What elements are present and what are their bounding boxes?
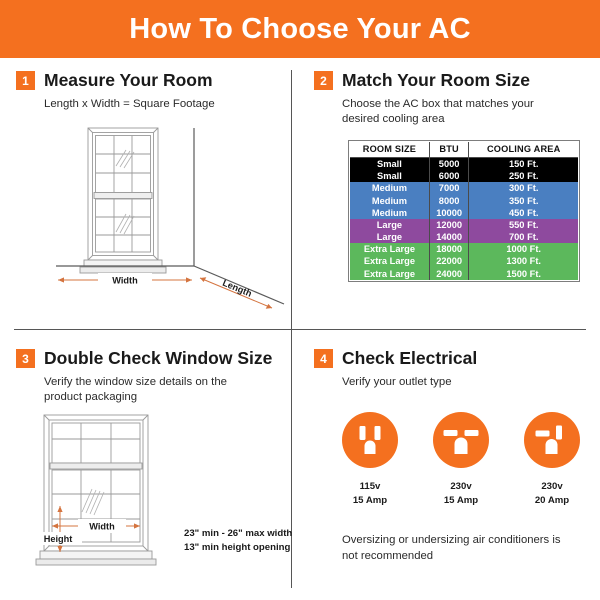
- outlet-3-caption: 230v 20 Amp: [524, 480, 580, 507]
- btu-table-body: Small5000150 Ft.Small6000250 Ft.Medium70…: [350, 157, 578, 279]
- step-4-heading: 4 Check Electrical: [314, 348, 586, 369]
- room-diagram-svg: Width Length: [16, 114, 296, 310]
- step-1-subtitle: Length x Width = Square Footage: [44, 97, 278, 112]
- btu-cell-btu: 24000: [429, 268, 469, 280]
- infographic-page: How To Choose Your AC 1 Measure Your Roo…: [0, 0, 600, 600]
- step-2-heading: 2 Match Your Room Size: [314, 70, 586, 91]
- outlet-1-amperage: 15 Amp: [342, 494, 398, 508]
- outlet-2-caption: 230v 15 Amp: [433, 480, 489, 507]
- outlet-option-2: 230v 15 Amp: [433, 412, 489, 507]
- column-header-cooling-area: COOLING AREA: [469, 142, 578, 157]
- step-2-subtitle: Choose the AC box that matches your desi…: [342, 97, 547, 127]
- step-3-subtitle: Verify the window size details on the pr…: [44, 375, 259, 405]
- btu-cell-btu: 12000: [429, 219, 469, 231]
- outlet-115v-15amp-icon: [342, 412, 398, 468]
- btu-cell-room-size: Medium: [350, 207, 429, 219]
- outlet-2-voltage: 230v: [433, 480, 489, 494]
- step-1-number-badge: 1: [16, 71, 35, 90]
- window-note-line-1: 23" min - 26" max width: [184, 527, 292, 541]
- step-4-number-badge: 4: [314, 349, 333, 368]
- btu-cell-btu: 6000: [429, 170, 469, 182]
- outlet-option-1: 115v 15 Amp: [342, 412, 398, 507]
- btu-cell-room-size: Extra Large: [350, 255, 429, 267]
- btu-table-row: Medium7000300 Ft.: [350, 182, 578, 194]
- btu-table-row: Medium8000350 Ft.: [350, 194, 578, 206]
- page-title: How To Choose Your AC: [129, 13, 470, 46]
- step-3-title: Double Check Window Size: [44, 348, 272, 369]
- window-width-label: Width: [89, 522, 115, 532]
- step-4-subtitle: Verify your outlet type: [342, 375, 586, 390]
- btu-cell-room-size: Large: [350, 219, 429, 231]
- window-note-line-2: 13" min height opening: [184, 541, 292, 555]
- outlet-3-voltage: 230v: [524, 480, 580, 494]
- btu-cell-room-size: Small: [350, 157, 429, 170]
- btu-cell-room-size: Large: [350, 231, 429, 243]
- column-header-btu: BTU: [429, 142, 469, 157]
- window-size-diagram: Width Height 23" min - 26" max width 13"…: [16, 409, 278, 595]
- header-banner: How To Choose Your AC: [0, 0, 600, 58]
- btu-table-row: Extra Large240001500 Ft.: [350, 268, 578, 280]
- btu-table-header-row: ROOM SIZE BTU COOLING AREA: [350, 142, 578, 157]
- btu-cell-btu: 7000: [429, 182, 469, 194]
- length-label: Length: [221, 278, 253, 299]
- step-1-heading: 1 Measure Your Room: [16, 70, 278, 91]
- room-measurement-diagram: Width Length: [16, 114, 278, 310]
- btu-cell-room-size: Medium: [350, 182, 429, 194]
- btu-table-row: Large12000550 Ft.: [350, 219, 578, 231]
- btu-cell-btu: 10000: [429, 207, 469, 219]
- btu-cell-cooling-area: 700 Ft.: [469, 231, 578, 243]
- btu-table-row: Extra Large220001300 Ft.: [350, 255, 578, 267]
- btu-cell-cooling-area: 350 Ft.: [469, 194, 578, 206]
- width-label: Width: [112, 276, 138, 286]
- btu-cell-room-size: Medium: [350, 194, 429, 206]
- outlet-230v-20amp-icon: [524, 412, 580, 468]
- btu-table: ROOM SIZE BTU COOLING AREA Small5000150 …: [350, 142, 578, 280]
- outlet-230v-15amp-icon: [433, 412, 489, 468]
- btu-table-row: Small6000250 Ft.: [350, 170, 578, 182]
- btu-cell-cooling-area: 1000 Ft.: [469, 243, 578, 255]
- column-header-room-size: ROOM SIZE: [350, 142, 429, 157]
- step-3-number-badge: 3: [16, 349, 35, 368]
- window-diagram-svg: Width Height: [16, 409, 288, 595]
- outlet-option-3: 230v 20 Amp: [524, 412, 580, 507]
- btu-cell-room-size: Extra Large: [350, 268, 429, 280]
- btu-cell-btu: 5000: [429, 157, 469, 170]
- btu-cell-btu: 22000: [429, 255, 469, 267]
- btu-cell-cooling-area: 300 Ft.: [469, 182, 578, 194]
- step-1-panel: 1 Measure Your Room Length x Width = Squ…: [0, 58, 292, 330]
- step-4-panel: 4 Check Electrical Verify your outlet ty…: [292, 330, 600, 600]
- outlet-1-voltage: 115v: [342, 480, 398, 494]
- window-size-notes: 23" min - 26" max width 13" min height o…: [184, 527, 292, 555]
- btu-cell-cooling-area: 250 Ft.: [469, 170, 578, 182]
- btu-cell-btu: 18000: [429, 243, 469, 255]
- btu-table-wrapper: ROOM SIZE BTU COOLING AREA Small5000150 …: [348, 140, 580, 282]
- step-4-title: Check Electrical: [342, 348, 477, 369]
- btu-cell-cooling-area: 450 Ft.: [469, 207, 578, 219]
- step-2-number-badge: 2: [314, 71, 333, 90]
- outlet-2-amperage: 15 Amp: [433, 494, 489, 508]
- btu-table-row: Large14000700 Ft.: [350, 231, 578, 243]
- outlet-1-caption: 115v 15 Amp: [342, 480, 398, 507]
- btu-table-row: Extra Large180001000 Ft.: [350, 243, 578, 255]
- btu-cell-room-size: Small: [350, 170, 429, 182]
- btu-cell-cooling-area: 150 Ft.: [469, 157, 578, 170]
- btu-cell-cooling-area: 1500 Ft.: [469, 268, 578, 280]
- btu-cell-btu: 8000: [429, 194, 469, 206]
- btu-cell-cooling-area: 1300 Ft.: [469, 255, 578, 267]
- btu-table-row: Medium10000450 Ft.: [350, 207, 578, 219]
- step-3-panel: 3 Double Check Window Size Verify the wi…: [0, 330, 292, 600]
- step-3-heading: 3 Double Check Window Size: [16, 348, 278, 369]
- step-2-title: Match Your Room Size: [342, 70, 530, 91]
- step-1-title: Measure Your Room: [44, 70, 213, 91]
- btu-cell-cooling-area: 550 Ft.: [469, 219, 578, 231]
- sizing-recommendation-note: Oversizing or undersizing air conditione…: [342, 533, 574, 564]
- window-height-label: Height: [44, 534, 73, 544]
- outlet-3-amperage: 20 Amp: [524, 494, 580, 508]
- btu-cell-btu: 14000: [429, 231, 469, 243]
- outlet-type-list: 115v 15 Amp 230v 15 Amp: [342, 412, 586, 507]
- steps-grid: 1 Measure Your Room Length x Width = Squ…: [0, 58, 600, 600]
- btu-cell-room-size: Extra Large: [350, 243, 429, 255]
- step-2-panel: 2 Match Your Room Size Choose the AC box…: [292, 58, 600, 330]
- btu-table-row: Small5000150 Ft.: [350, 157, 578, 170]
